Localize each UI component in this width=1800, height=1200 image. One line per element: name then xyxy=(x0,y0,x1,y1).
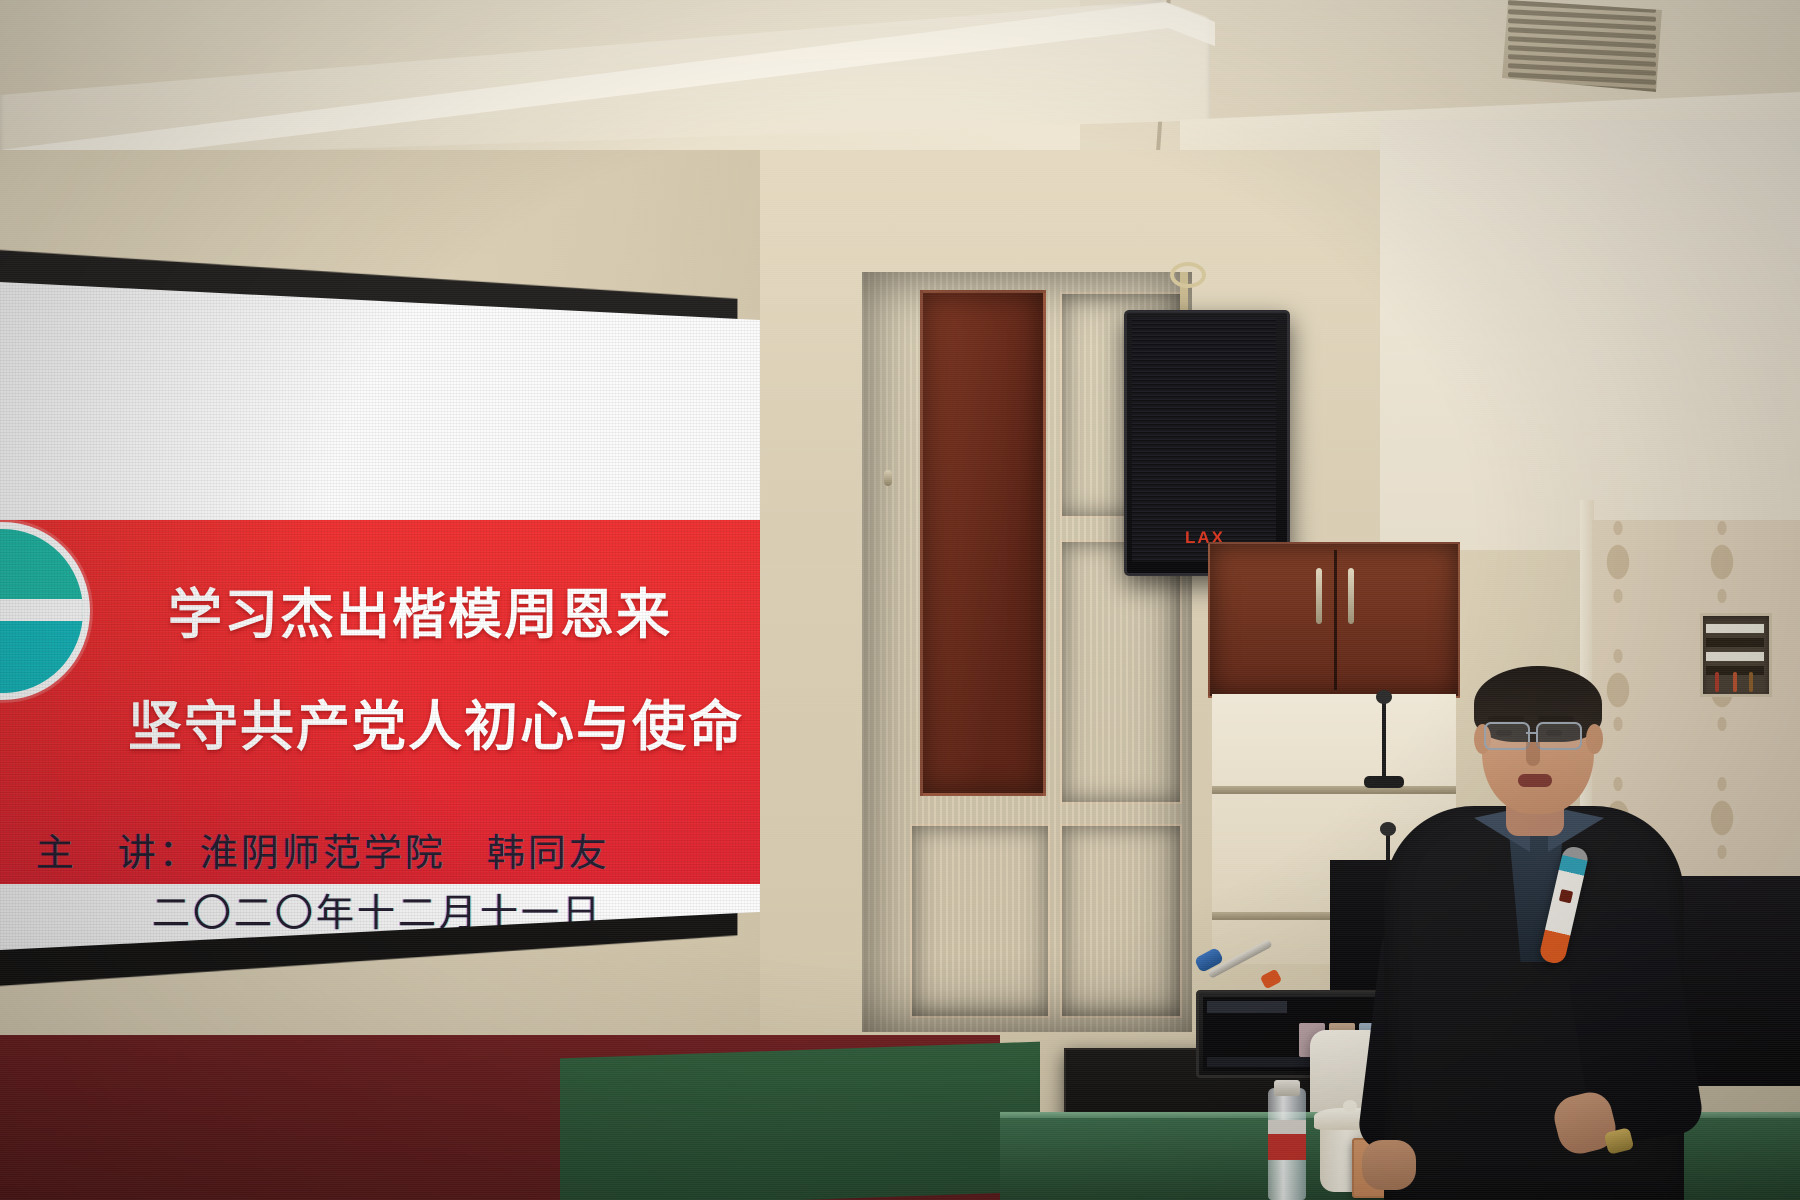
monitor-toolbar xyxy=(1207,1001,1287,1013)
microphone-button[interactable] xyxy=(1559,889,1573,903)
cabinet-divider xyxy=(1334,550,1337,690)
emblem-lower-half xyxy=(0,621,90,700)
water-bottle-label xyxy=(1268,1120,1306,1160)
stage-green-cloth xyxy=(560,1042,1040,1200)
presentation-slide: 学习杰出楷模周恩来 坚守共产党人初心与使命 主 讲：淮阴师范学院 韩同友 二〇二… xyxy=(0,282,772,954)
speaker-hanger-hook xyxy=(1170,262,1206,288)
presenter-left-hand xyxy=(1362,1140,1416,1190)
presenter-mouth xyxy=(1518,774,1552,787)
door-knob-icon[interactable] xyxy=(884,470,892,486)
slide-presenter-line: 主 讲：淮阴师范学院 韩同友 xyxy=(36,822,610,877)
slide-title-line-1: 学习杰出楷模周恩来 xyxy=(168,570,672,649)
slide-title-line-2: 坚守共产党人初心与使命 xyxy=(128,682,744,761)
wood-panel-lower xyxy=(1060,824,1182,1018)
loudspeaker-grille xyxy=(1132,318,1276,562)
presenter-brow-left xyxy=(1488,716,1524,721)
water-bottle-cap xyxy=(1274,1080,1300,1096)
lecture-hall-photo: LAX 学习杰出楷模周恩来 坚守共产党人初心与使命 主 讲：淮阴师范学院 韩同友… xyxy=(0,0,1800,1200)
cabinet-handle-left[interactable] xyxy=(1316,568,1322,624)
led-screen-display[interactable]: 学习杰出楷模周恩来 坚守共产党人初心与使命 主 讲：淮阴师范学院 韩同友 二〇二… xyxy=(0,282,772,954)
electrical-box-icon xyxy=(1700,613,1772,697)
wall-upper-plaster xyxy=(1380,120,1800,550)
wood-door[interactable] xyxy=(920,290,1046,796)
emblem-white-bar xyxy=(0,599,90,621)
eyeglasses-bridge xyxy=(1526,732,1538,734)
wood-panel-left-lower xyxy=(910,824,1050,1018)
cabinet-handle-right[interactable] xyxy=(1348,568,1354,624)
wood-panel-middle xyxy=(1060,540,1182,804)
air-vent-icon xyxy=(1502,0,1662,92)
tea-cup-knob xyxy=(1343,1100,1357,1112)
presenter-nose xyxy=(1526,742,1540,766)
presenter-person xyxy=(1370,660,1700,1200)
eyeglasses-icon-right xyxy=(1536,722,1582,750)
presenter-brow-right xyxy=(1538,716,1574,721)
eyeglasses-icon xyxy=(1484,722,1530,750)
presenter-ear-right xyxy=(1586,724,1603,754)
